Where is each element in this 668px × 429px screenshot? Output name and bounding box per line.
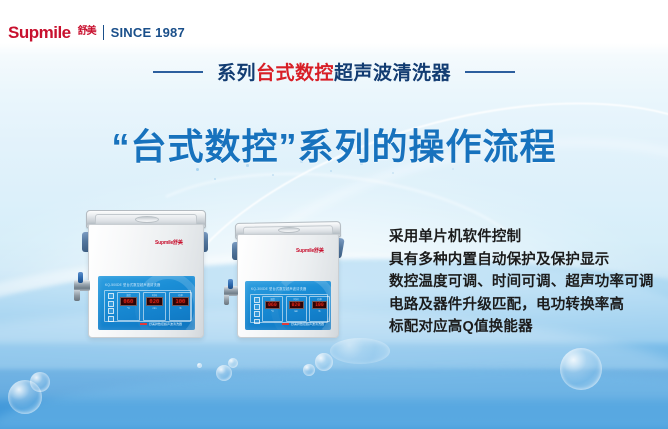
brand-logo: Supmile 舒美 SINCE 1987: [8, 22, 185, 42]
panel-model-label: KQ-500DE 型台式数控超声波清洗器: [105, 282, 160, 287]
bubble: [560, 348, 602, 390]
control-panel: KQ-300DE 型台式数控超声波清洗器 温度 060 °C 时间: [245, 281, 331, 330]
display-unit: min: [153, 307, 157, 310]
tank-body: Supmile舒美 KQ-500DE 型台式数控超声波清洗器 温度 060 °C: [88, 224, 204, 338]
subtitle-prefix: 系列: [217, 63, 256, 84]
product-unit-small: Supmile舒美 KQ-300DE 型台式数控超声波清洗器 温度 060 °C: [232, 222, 342, 340]
led-readout: 060: [265, 301, 280, 309]
control-panel: KQ-500DE 型台式数控超声波清洗器 温度 060 °C 时间: [98, 276, 195, 330]
display-cell: 时间 020 min: [143, 292, 166, 321]
led-readout: 060: [120, 297, 137, 306]
display-group: 温度 060 °C 时间 020 min 功率 100 %: [117, 292, 192, 321]
display-cell: 温度 060 °C: [262, 296, 283, 322]
display-cell: 功率 100 %: [309, 296, 330, 322]
led-readout: 020: [146, 297, 163, 306]
display-unit: %: [318, 310, 320, 313]
decor-dot: [272, 174, 274, 176]
panel-button[interactable]: [108, 293, 114, 299]
display-cell: 温度 060 °C: [117, 292, 140, 321]
feature-item: 采用单片机软件控制: [389, 226, 668, 249]
panel-button[interactable]: [108, 301, 114, 307]
decor-dot: [392, 172, 394, 174]
panel-button[interactable]: [254, 319, 260, 325]
led-readout: 100: [172, 297, 189, 306]
bubble: [197, 363, 202, 368]
drain-spout: [224, 295, 229, 305]
panel-footer-text: 舒美牌数控超声波清洗器: [291, 322, 324, 326]
subtitle-highlight: 台式数控: [256, 63, 334, 84]
drain-valve-handle[interactable]: [78, 272, 83, 283]
drain-spout: [74, 290, 80, 301]
display-unit: °C: [127, 307, 130, 310]
panel-button[interactable]: [254, 304, 260, 310]
panel-footer: 舒美牌数控超声波清洗器: [282, 322, 324, 326]
product-brand-label: Supmile舒美: [155, 239, 183, 246]
display-group: 温度 060 °C 时间 020 min 功率 100 %: [262, 296, 330, 322]
logo-since-text: SINCE 1987: [111, 26, 185, 39]
display-cell: 功率 100 %: [169, 292, 192, 321]
subtitle-rule-right: [465, 71, 515, 73]
subtitle-suffix: 超声波清洗器: [334, 63, 451, 84]
feature-item: 标配对应高Q值换能器: [389, 316, 668, 339]
panel-button[interactable]: [108, 316, 114, 322]
bubble: [303, 364, 315, 376]
drain-valve-handle[interactable]: [228, 279, 233, 289]
bubble: [30, 372, 50, 392]
feature-item: 电路及器件升级匹配，电功转换率高: [389, 294, 668, 317]
led-readout: 020: [289, 301, 304, 309]
panel-model-label: KQ-300DE 型台式数控超声波清洗器: [251, 286, 306, 291]
led-readout: 100: [312, 301, 327, 309]
logo-wordmark: Supmile: [8, 24, 71, 41]
bubble: [228, 358, 238, 368]
subtitle-row: 系列台式数控超声波清洗器: [0, 58, 668, 85]
tank-body: Supmile舒美 KQ-300DE 型台式数控超声波清洗器 温度 060 °C: [237, 234, 339, 338]
panel-button-column[interactable]: [108, 293, 114, 322]
product-brand-label: Supmile舒美: [296, 247, 324, 254]
decor-dot: [330, 170, 332, 172]
feature-item: 具有多种内置自动保护及保护显示: [389, 249, 668, 272]
display-unit: min: [294, 310, 298, 313]
panel-footer-bar: [282, 323, 289, 324]
panel-footer-text: 舒美牌数控超声波清洗器: [149, 322, 182, 326]
feature-list: 采用单片机软件控制 具有多种内置自动保护及保护显示 数控温度可调、时间可调、超声…: [389, 226, 668, 339]
feature-item: 数控温度可调、时间可调、超声功率可调: [389, 271, 668, 294]
panel-button[interactable]: [108, 308, 114, 314]
subtitle-text: 系列台式数控超声波清洗器: [217, 58, 451, 85]
bubble: [315, 353, 333, 371]
tank-lid-handle: [135, 216, 159, 223]
slide-canvas: Supmile 舒美 SINCE 1987 系列台式数控超声波清洗器 “台式数控…: [0, 0, 668, 429]
decor-dot: [214, 178, 216, 180]
panel-footer-bar: [140, 323, 147, 324]
product-unit-large: Supmile舒美 KQ-500DE 型台式数控超声波清洗器 温度 060 °C: [82, 210, 208, 340]
display-unit: °C: [271, 310, 274, 313]
panel-button[interactable]: [254, 297, 260, 303]
bubble: [216, 365, 232, 381]
logo-chinese-name: 舒美: [78, 27, 96, 37]
bubble: [330, 338, 390, 364]
subtitle-rule-left: [153, 71, 203, 73]
page-title: “台式数控”系列的操作流程: [0, 118, 668, 170]
display-cell: 时间 020 min: [286, 296, 307, 322]
panel-footer: 舒美牌数控超声波清洗器: [140, 322, 182, 326]
logo-divider: [103, 25, 104, 40]
display-unit: %: [179, 307, 181, 310]
panel-button-column[interactable]: [254, 297, 260, 324]
panel-button[interactable]: [254, 311, 260, 317]
